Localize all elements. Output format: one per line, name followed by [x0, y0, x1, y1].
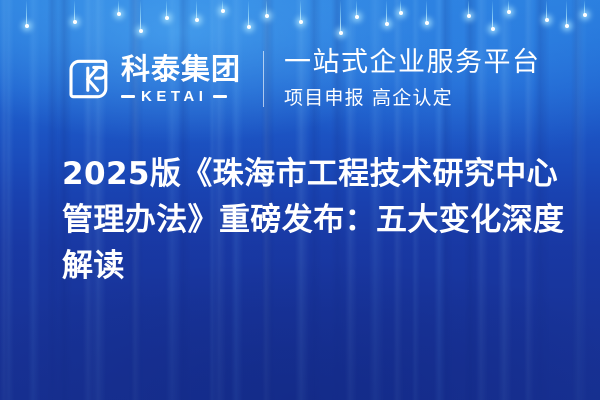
slogan-secondary: 项目申报 高企认定: [284, 83, 541, 110]
falling-particle-icon: [492, 0, 493, 29]
falling-particle-icon: [566, 0, 567, 26]
brand-logo[interactable]: 科泰集团 KETAI: [62, 53, 241, 105]
falling-particle-icon: [222, 0, 223, 11]
falling-particle-icon: [118, 0, 119, 14]
brand-header: 科泰集团 KETAI 一站式企业服务平台 项目申报 高企认定: [62, 46, 541, 112]
header-divider: [263, 51, 264, 107]
promo-banner: 科泰集团 KETAI 一站式企业服务平台 项目申报 高企认定 2025版《珠海市…: [0, 0, 600, 400]
falling-particle-icon: [584, 0, 585, 15]
falling-particle-icon: [468, 0, 469, 16]
brand-name-en-row: KETAI: [121, 89, 241, 104]
falling-particle-icon: [196, 0, 197, 20]
falling-particle-icon: [74, 0, 75, 22]
ketai-monogram-icon: [62, 53, 114, 105]
slogan-block: 一站式企业服务平台 项目申报 高企认定: [284, 48, 541, 110]
slogan-primary: 一站式企业服务平台: [284, 48, 541, 77]
falling-particle-icon: [356, 0, 357, 17]
dash-left-icon: [121, 95, 135, 98]
falling-particle-icon: [300, 0, 301, 22]
page-title: 2025版《珠海市工程技术研究中心管理办法》重磅发布：五大变化深度解读: [62, 152, 582, 290]
falling-particle-icon: [426, 0, 427, 23]
brand-name-en: KETAI: [141, 89, 207, 104]
dash-right-icon: [213, 95, 227, 98]
falling-particle-icon: [546, 0, 547, 20]
falling-particle-icon: [26, 0, 27, 26]
falling-particle-icon: [386, 0, 387, 24]
falling-particle-icon: [266, 0, 267, 16]
brand-wordmark: 科泰集团 KETAI: [121, 55, 241, 104]
falling-particle-icon: [400, 0, 401, 13]
brand-name-cn: 科泰集团: [121, 55, 241, 84]
falling-particle-icon: [140, 0, 141, 31]
falling-particle-icon: [248, 0, 249, 27]
falling-particle-icon: [340, 0, 341, 33]
falling-particle-icon: [166, 0, 167, 18]
falling-particle-icon: [508, 0, 509, 12]
